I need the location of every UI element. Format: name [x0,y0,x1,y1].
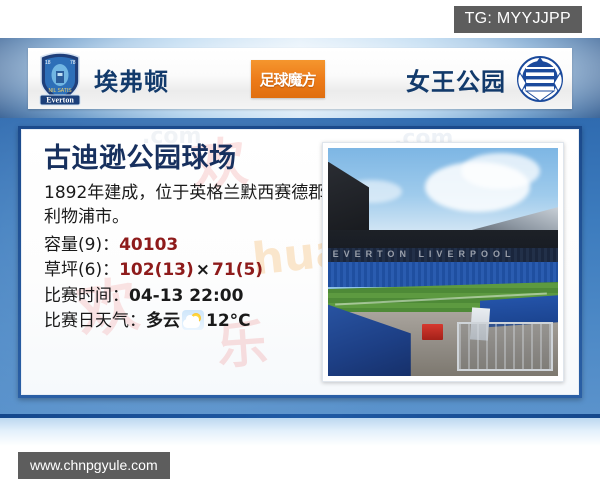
home-team[interactable]: NIL SATIS 18 78 Everton 埃弗顿 [28,51,169,107]
weather-condition: 多云 [146,311,180,331]
kickoff-label: 比赛时间： [44,286,129,306]
away-team-name: 女王公园 [406,62,506,97]
info-card: 欢 huanba 欢 乐 .com .com 古迪逊公园球场 1892年建成，位… [21,129,579,395]
sponsor-label: 足球魔方 [259,69,315,90]
stadium-description: 1892年建成，位于英格兰默西赛德郡利物浦市。 [44,181,329,230]
telegram-tag: TG: MYYJJPP [454,6,582,33]
capacity-label: 容量(9)： [44,235,119,255]
home-team-name: 埃弗顿 [94,62,169,97]
bottom-glow [0,418,600,446]
capacity-row: 容量(9)：40103 [44,233,329,259]
weather-row: 比赛日天气：多云12°C [44,309,329,335]
match-info-graphic: TG: MYYJJPP NIL SATIS 18 78 Everto [0,0,600,480]
kickoff-value: 04-13 22:00 [129,286,243,306]
teams-header-bar: NIL SATIS 18 78 Everton 埃弗顿 足球魔方 女王公园 [28,48,572,109]
weather-label: 比赛日天气： [44,311,146,331]
qpr-crest [514,51,566,107]
pitch-width: 71(5) [212,260,263,280]
weather-temperature: 12°C [206,311,251,331]
stadium-photo: EVERTON LIVERPOOL [328,148,558,376]
svg-text:NIL SATIS: NIL SATIS [48,88,72,94]
svg-text:Everton: Everton [46,96,74,105]
pitch-row: 草坪(6)：102(13)×71(5) [44,258,329,284]
main-stage: 欢 huanba 欢 乐 .com .com 古迪逊公园球场 1892年建成，位… [0,118,600,418]
pitch-label: 草坪(6)： [44,260,119,280]
away-team[interactable]: 女王公园 [406,51,572,107]
svg-text:78: 78 [70,60,76,66]
everton-crest: NIL SATIS 18 78 Everton [34,51,86,107]
stadium-info-column: 古迪逊公园球场 1892年建成，位于英格兰默西赛德郡利物浦市。 容量(9)：40… [44,144,329,335]
stadium-title: 古迪逊公园球场 [44,144,329,174]
pitch-length: 102(13) [119,260,194,280]
teams-header-band: NIL SATIS 18 78 Everton 埃弗顿 足球魔方 女王公园 [0,38,600,118]
sponsor-logo[interactable]: 足球魔方 [251,60,325,98]
partly-cloudy-icon [182,310,204,330]
pitch-separator: × [194,260,212,280]
capacity-value: 40103 [119,235,178,255]
stadium-photo-frame: EVERTON LIVERPOOL [322,142,564,382]
site-url-tag: www.chnpgyule.com [18,452,170,479]
info-card-frame: 欢 huanba 欢 乐 .com .com 古迪逊公园球场 1892年建成，位… [18,126,582,398]
kickoff-row: 比赛时间：04-13 22:00 [44,284,329,310]
svg-text:18: 18 [45,60,51,66]
